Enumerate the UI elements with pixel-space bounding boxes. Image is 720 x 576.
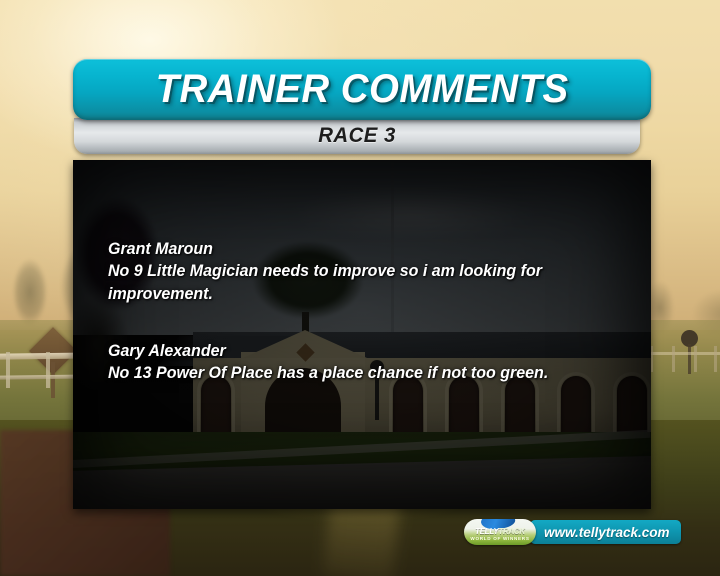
page-title: TRAINER COMMENTS — [155, 67, 568, 112]
fence-post — [694, 346, 697, 372]
trainer-name: Gary Alexander — [108, 340, 603, 362]
logo-brand-part1: TELLY — [475, 527, 498, 536]
logo-wordmark: TELLYTRACK — [469, 527, 531, 536]
trainer-name: Grant Maroun — [108, 238, 603, 260]
trainer-comment-entry: Gary Alexander No 13 Power Of Place has … — [108, 340, 618, 385]
fence-post — [672, 346, 675, 372]
website-url-pill[interactable]: www.tellytrack.com — [530, 520, 681, 544]
panel-subtitle-bar: RACE 3 — [74, 118, 640, 154]
logo-tagline: WORLD OF WINNERS — [467, 536, 533, 542]
panel-title-bar: TRAINER COMMENTS — [73, 59, 651, 120]
trainer-comments-panel: TRAINER COMMENTS RACE 3 — [73, 59, 651, 509]
rail-post — [6, 352, 10, 388]
trainer-comment-text: No 13 Power Of Place has a place chance … — [108, 362, 603, 385]
panel-content-area: Grant Maroun No 9 Little Magician needs … — [73, 160, 651, 509]
race-number-label: RACE 3 — [318, 124, 396, 148]
round-track-marker-post — [688, 344, 691, 374]
rail-post — [46, 352, 50, 388]
tellytrack-logo-icon: TELLYTRACK WORLD OF WINNERS — [464, 519, 536, 545]
trainer-comments-list: Grant Maroun No 9 Little Magician needs … — [108, 238, 618, 395]
trainer-comment-text: No 9 Little Magician needs to improve so… — [108, 260, 603, 306]
website-url-text: www.tellytrack.com — [544, 525, 670, 540]
tellytrack-watermark[interactable]: TELLYTRACK WORLD OF WINNERS www.tellytra… — [464, 519, 681, 545]
comment-spacer — [108, 316, 618, 340]
logo-brand-part2: TRACK — [498, 527, 525, 536]
broadcast-graphic-screen: TRAINER COMMENTS RACE 3 — [0, 0, 720, 576]
fence-post — [714, 346, 717, 372]
trainer-comment-entry: Grant Maroun No 9 Little Magician needs … — [108, 238, 618, 306]
distance-marker-post — [51, 362, 55, 398]
